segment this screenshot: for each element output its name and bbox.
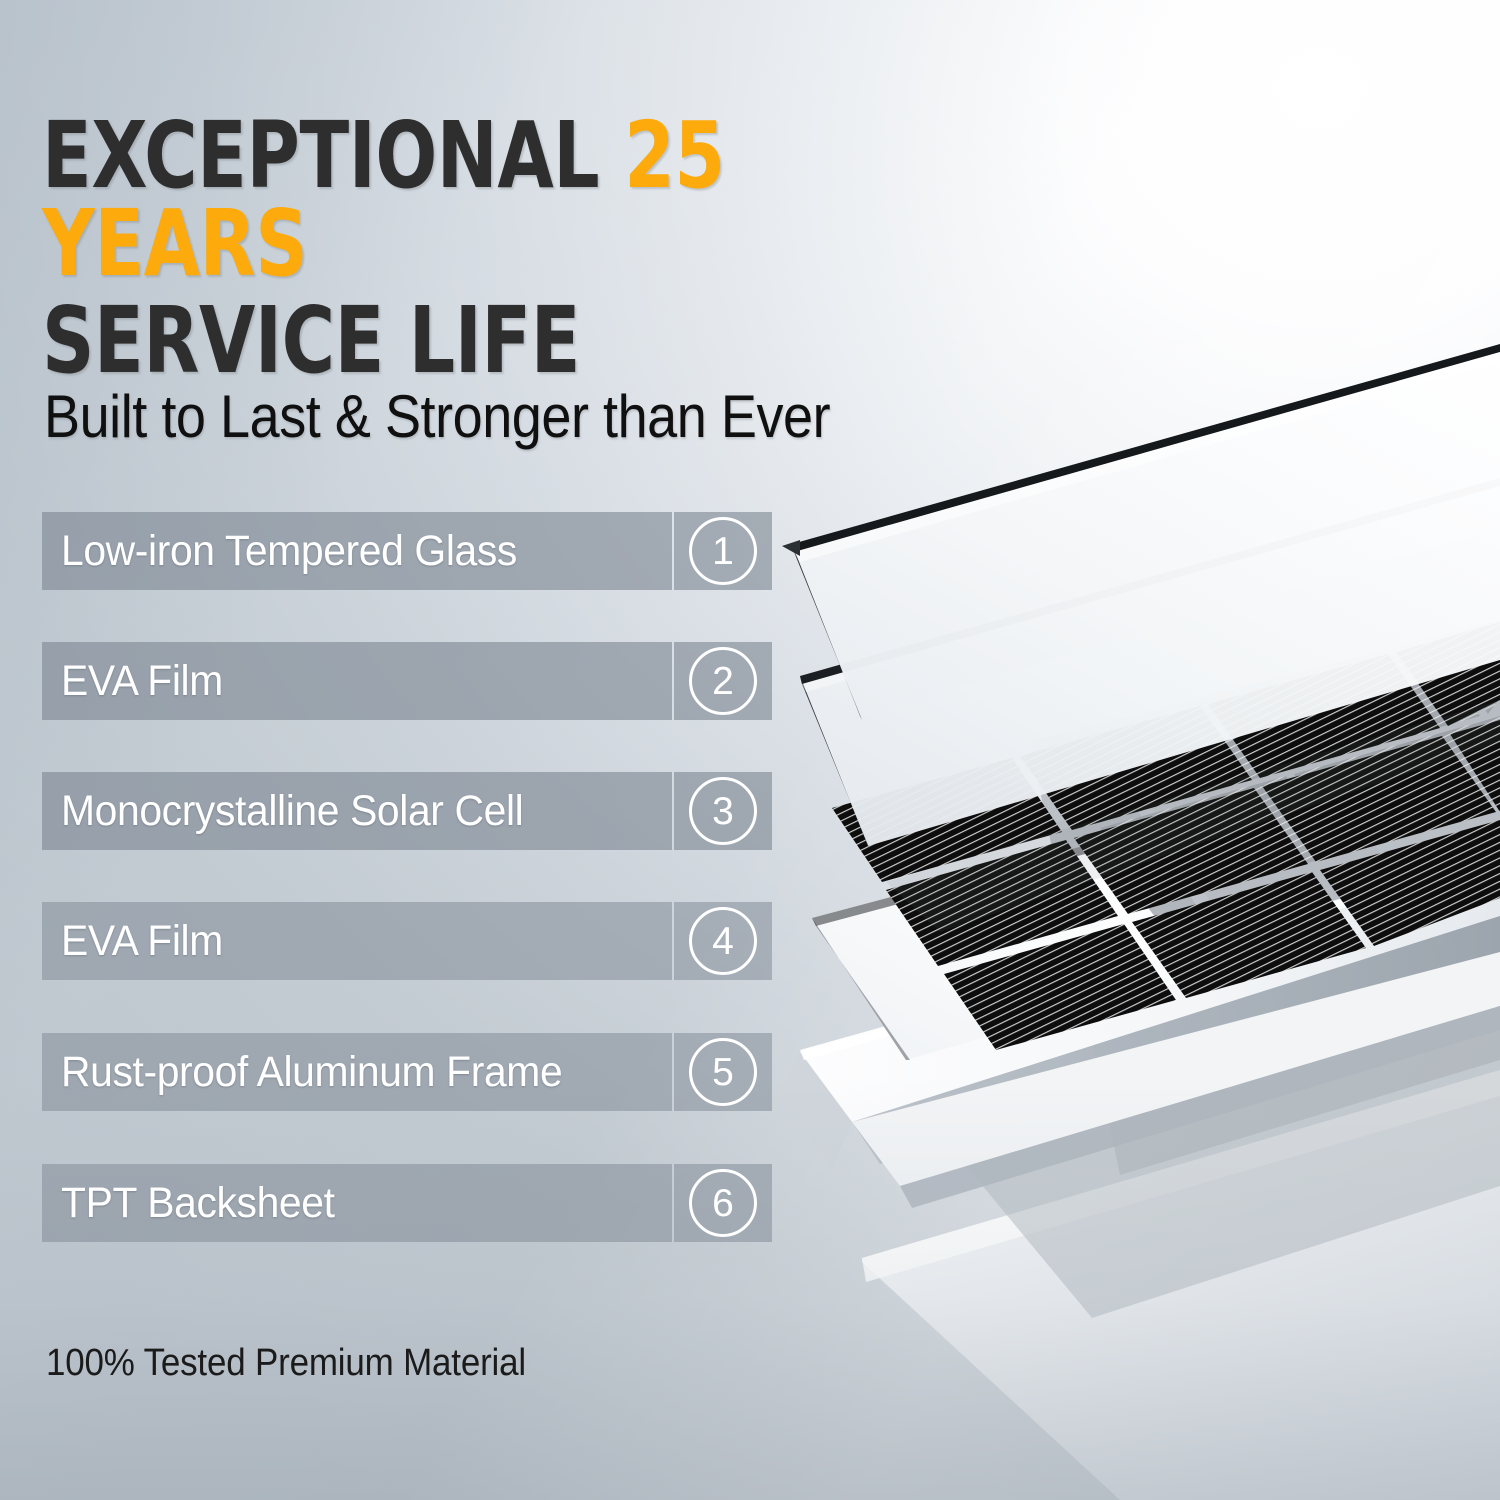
layer-label-bar-3: Monocrystalline Solar Cell (42, 772, 672, 850)
layer-badge-box-4: 4 (674, 902, 772, 980)
layer-label-2: EVA Film (42, 657, 223, 706)
layer-badge-box-2: 2 (674, 642, 772, 720)
footer-note: 100% Tested Premium Material (46, 1342, 526, 1385)
layer-badge-box-1: 1 (674, 512, 772, 590)
layer-badge-box-3: 3 (674, 772, 772, 850)
layer-number-circle-2: 2 (689, 647, 757, 715)
layer-number-circle-3: 3 (689, 777, 757, 845)
layer-label-bar-5: Rust-proof Aluminum Frame (42, 1033, 672, 1111)
layer-number-circle-6: 6 (689, 1169, 757, 1237)
layer-callout-list: Low-iron Tempered Glass 1 EVA Film 2 Mon… (0, 0, 1500, 1500)
layer-number-circle-4: 4 (689, 907, 757, 975)
layer-label-3: Monocrystalline Solar Cell (42, 787, 523, 836)
layer-number-circle-1: 1 (689, 517, 757, 585)
layer-label-6: TPT Backsheet (42, 1179, 335, 1228)
layer-badge-box-5: 5 (674, 1033, 772, 1111)
layer-label-1: Low-iron Tempered Glass (42, 527, 517, 576)
layer-number-circle-5: 5 (689, 1038, 757, 1106)
layer-label-bar-1: Low-iron Tempered Glass (42, 512, 672, 590)
layer-label-bar-4: EVA Film (42, 902, 672, 980)
layer-label-bar-6: TPT Backsheet (42, 1164, 672, 1242)
infographic-canvas: EXCEPTIONAL 25 YEARS SERVICE LIFE Built … (0, 0, 1500, 1500)
layer-label-bar-2: EVA Film (42, 642, 672, 720)
layer-badge-box-6: 6 (674, 1164, 772, 1242)
layer-label-5: Rust-proof Aluminum Frame (42, 1048, 562, 1097)
layer-label-4: EVA Film (42, 917, 223, 966)
